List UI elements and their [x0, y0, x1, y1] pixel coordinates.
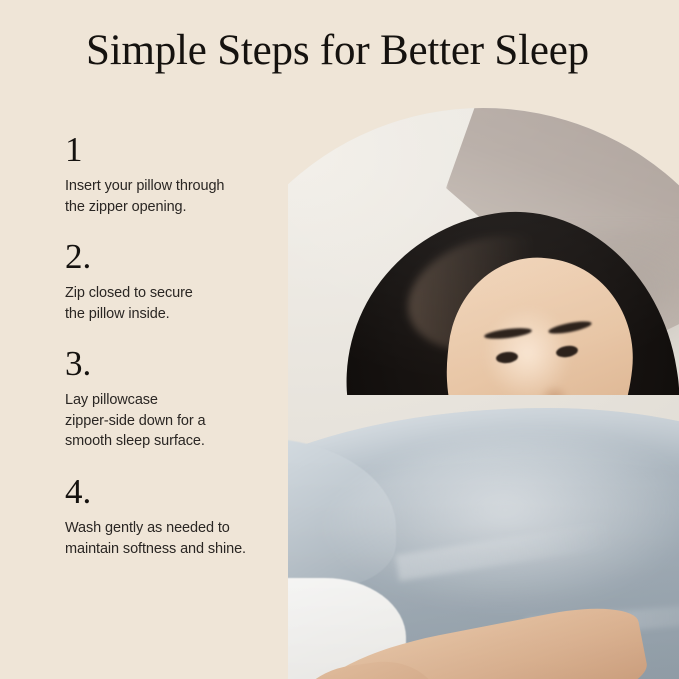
- poster-canvas: Simple Steps for Better Sleep 1 Insert y…: [0, 0, 679, 679]
- step-description: Wash gently as needed to maintain softne…: [65, 518, 285, 559]
- step-line: Zip closed to secure: [65, 283, 285, 304]
- step-line: Wash gently as needed to: [65, 518, 285, 539]
- step-number: 1: [65, 132, 285, 167]
- step-line: smooth sleep surface.: [65, 431, 285, 452]
- steps-list: 1 Insert your pillow through the zipper …: [65, 132, 285, 577]
- photo-circle-bottom: [288, 395, 679, 679]
- step-description: Insert your pillow through the zipper op…: [65, 176, 285, 217]
- step-line: Lay pillowcase: [65, 390, 285, 411]
- step-number: 3.: [65, 346, 285, 381]
- photo-scene-bottom: [288, 395, 679, 679]
- product-photo: [288, 0, 679, 679]
- list-item: 2. Zip closed to secure the pillow insid…: [65, 239, 285, 324]
- step-description: Lay pillowcase zipper-side down for a sm…: [65, 390, 285, 452]
- step-line: maintain softness and shine.: [65, 539, 285, 560]
- step-line: zipper-side down for a: [65, 411, 285, 432]
- step-line: the pillow inside.: [65, 304, 285, 325]
- list-item: 3. Lay pillowcase zipper-side down for a…: [65, 346, 285, 452]
- list-item: 1 Insert your pillow through the zipper …: [65, 132, 285, 217]
- step-line: Insert your pillow through: [65, 176, 285, 197]
- page-title: Simple Steps for Better Sleep: [86, 28, 589, 73]
- step-number: 2.: [65, 239, 285, 274]
- list-item: 4. Wash gently as needed to maintain sof…: [65, 474, 285, 559]
- step-number: 4.: [65, 474, 285, 509]
- step-line: the zipper opening.: [65, 197, 285, 218]
- step-description: Zip closed to secure the pillow inside.: [65, 283, 285, 324]
